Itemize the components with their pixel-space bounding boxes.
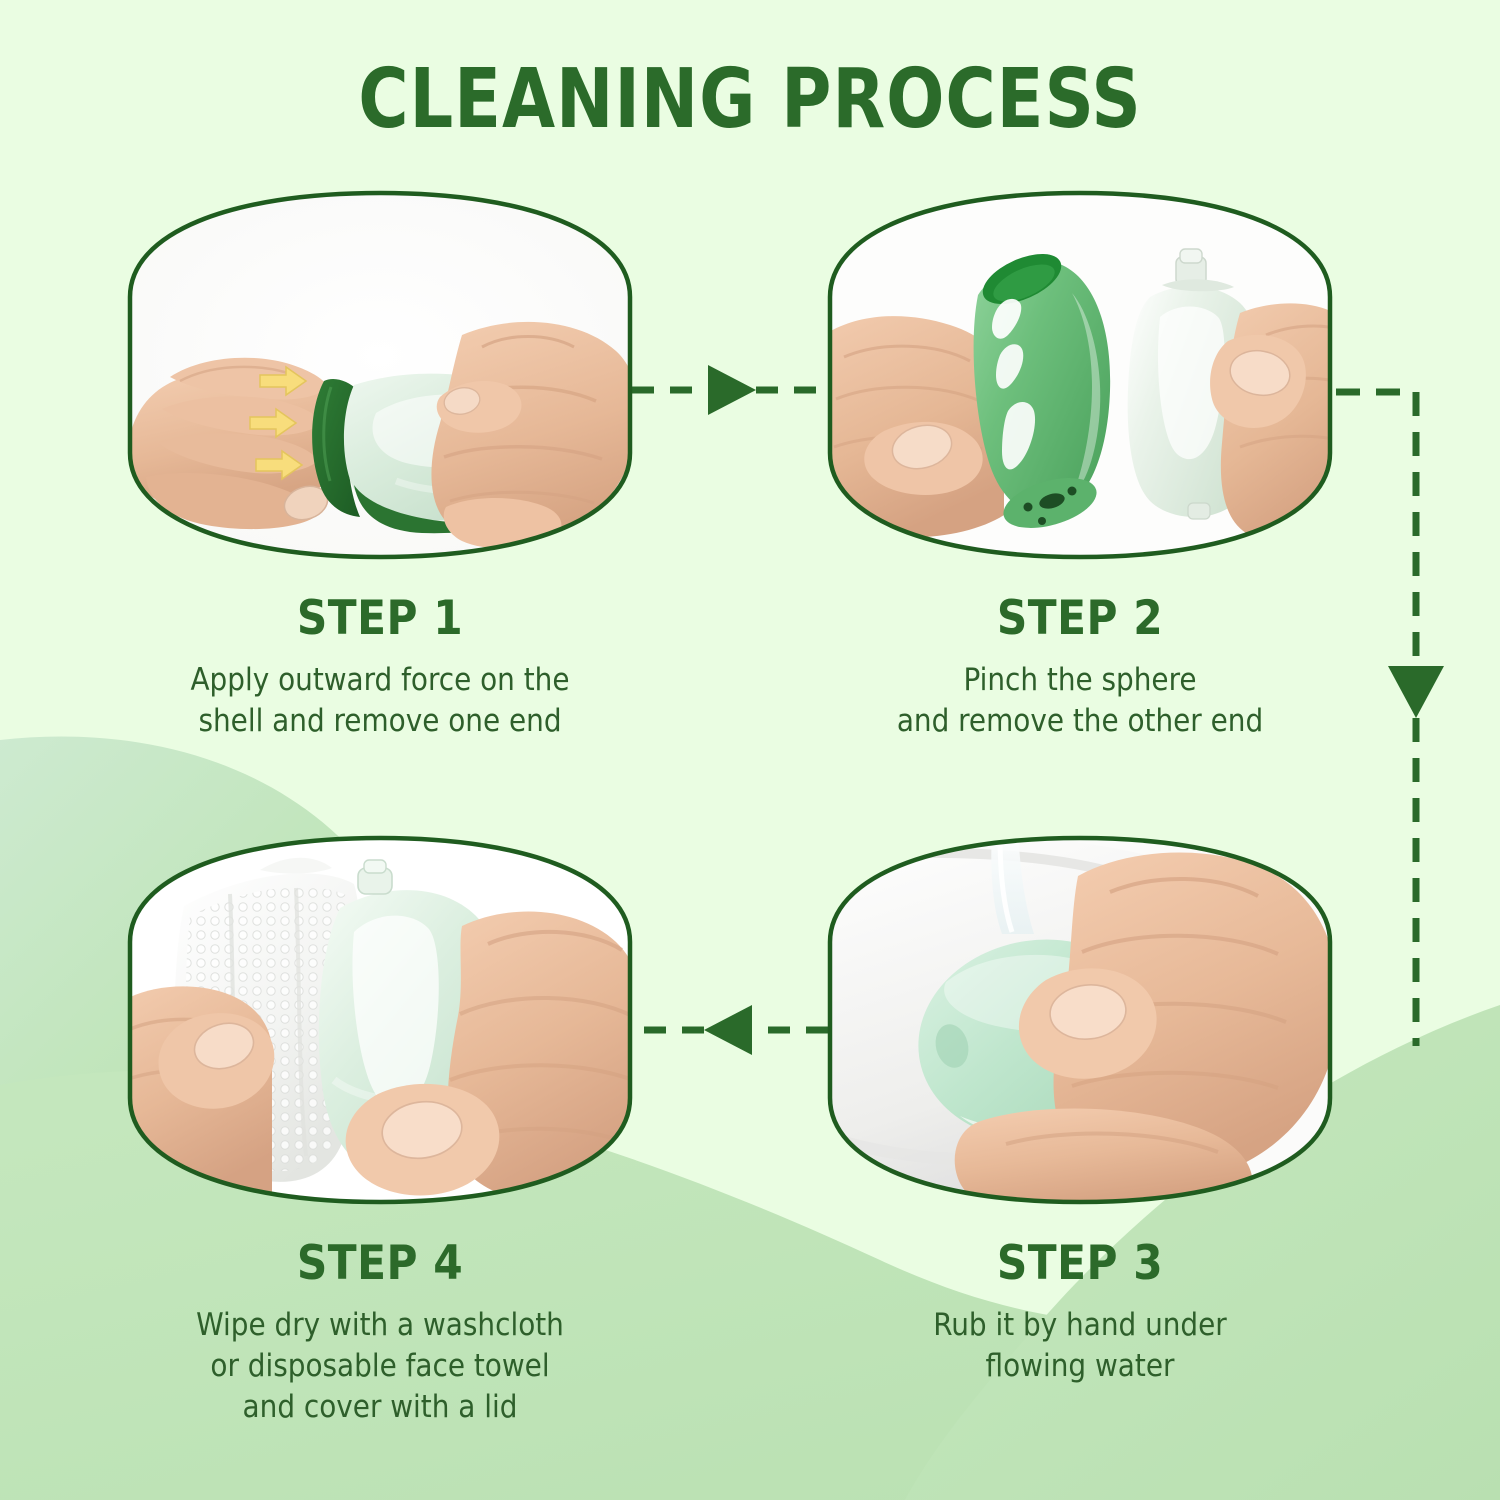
step-3-caption: Rub it by hand under flowing water bbox=[810, 1305, 1350, 1387]
infographic-canvas: CLEANING PROCESS bbox=[0, 0, 1500, 1500]
step-1-image-frame bbox=[110, 185, 650, 565]
step-2-label: STEP 2 bbox=[810, 591, 1350, 646]
step-1-photo bbox=[110, 185, 650, 565]
step-4-image-frame bbox=[110, 830, 650, 1210]
step-3-label: STEP 3 bbox=[810, 1236, 1350, 1291]
step-card-1[interactable]: STEP 1 Apply outward force on the shell … bbox=[110, 185, 650, 742]
connector-1-to-2 bbox=[630, 355, 830, 425]
step-3-photo bbox=[810, 830, 1350, 1210]
step-2-image-frame bbox=[810, 185, 1350, 565]
step-1-caption: Apply outward force on the shell and rem… bbox=[110, 660, 650, 742]
step-4-caption: Wipe dry with a washcloth or disposable … bbox=[110, 1305, 650, 1428]
step-card-3[interactable]: STEP 3 Rub it by hand under flowing wate… bbox=[810, 830, 1350, 1387]
step-1-label: STEP 1 bbox=[110, 591, 650, 646]
step-3-image-frame bbox=[810, 830, 1350, 1210]
connector-3-to-4 bbox=[630, 995, 830, 1065]
step-card-4[interactable]: STEP 4 Wipe dry with a washcloth or disp… bbox=[110, 830, 650, 1428]
step-4-label: STEP 4 bbox=[110, 1236, 650, 1291]
step-2-caption: Pinch the sphere and remove the other en… bbox=[810, 660, 1350, 742]
step-2-photo bbox=[810, 185, 1350, 565]
page-title: CLEANING PROCESS bbox=[53, 52, 1448, 147]
step-card-2[interactable]: STEP 2 Pinch the sphere and remove the o… bbox=[810, 185, 1350, 742]
step-4-photo bbox=[110, 830, 650, 1210]
